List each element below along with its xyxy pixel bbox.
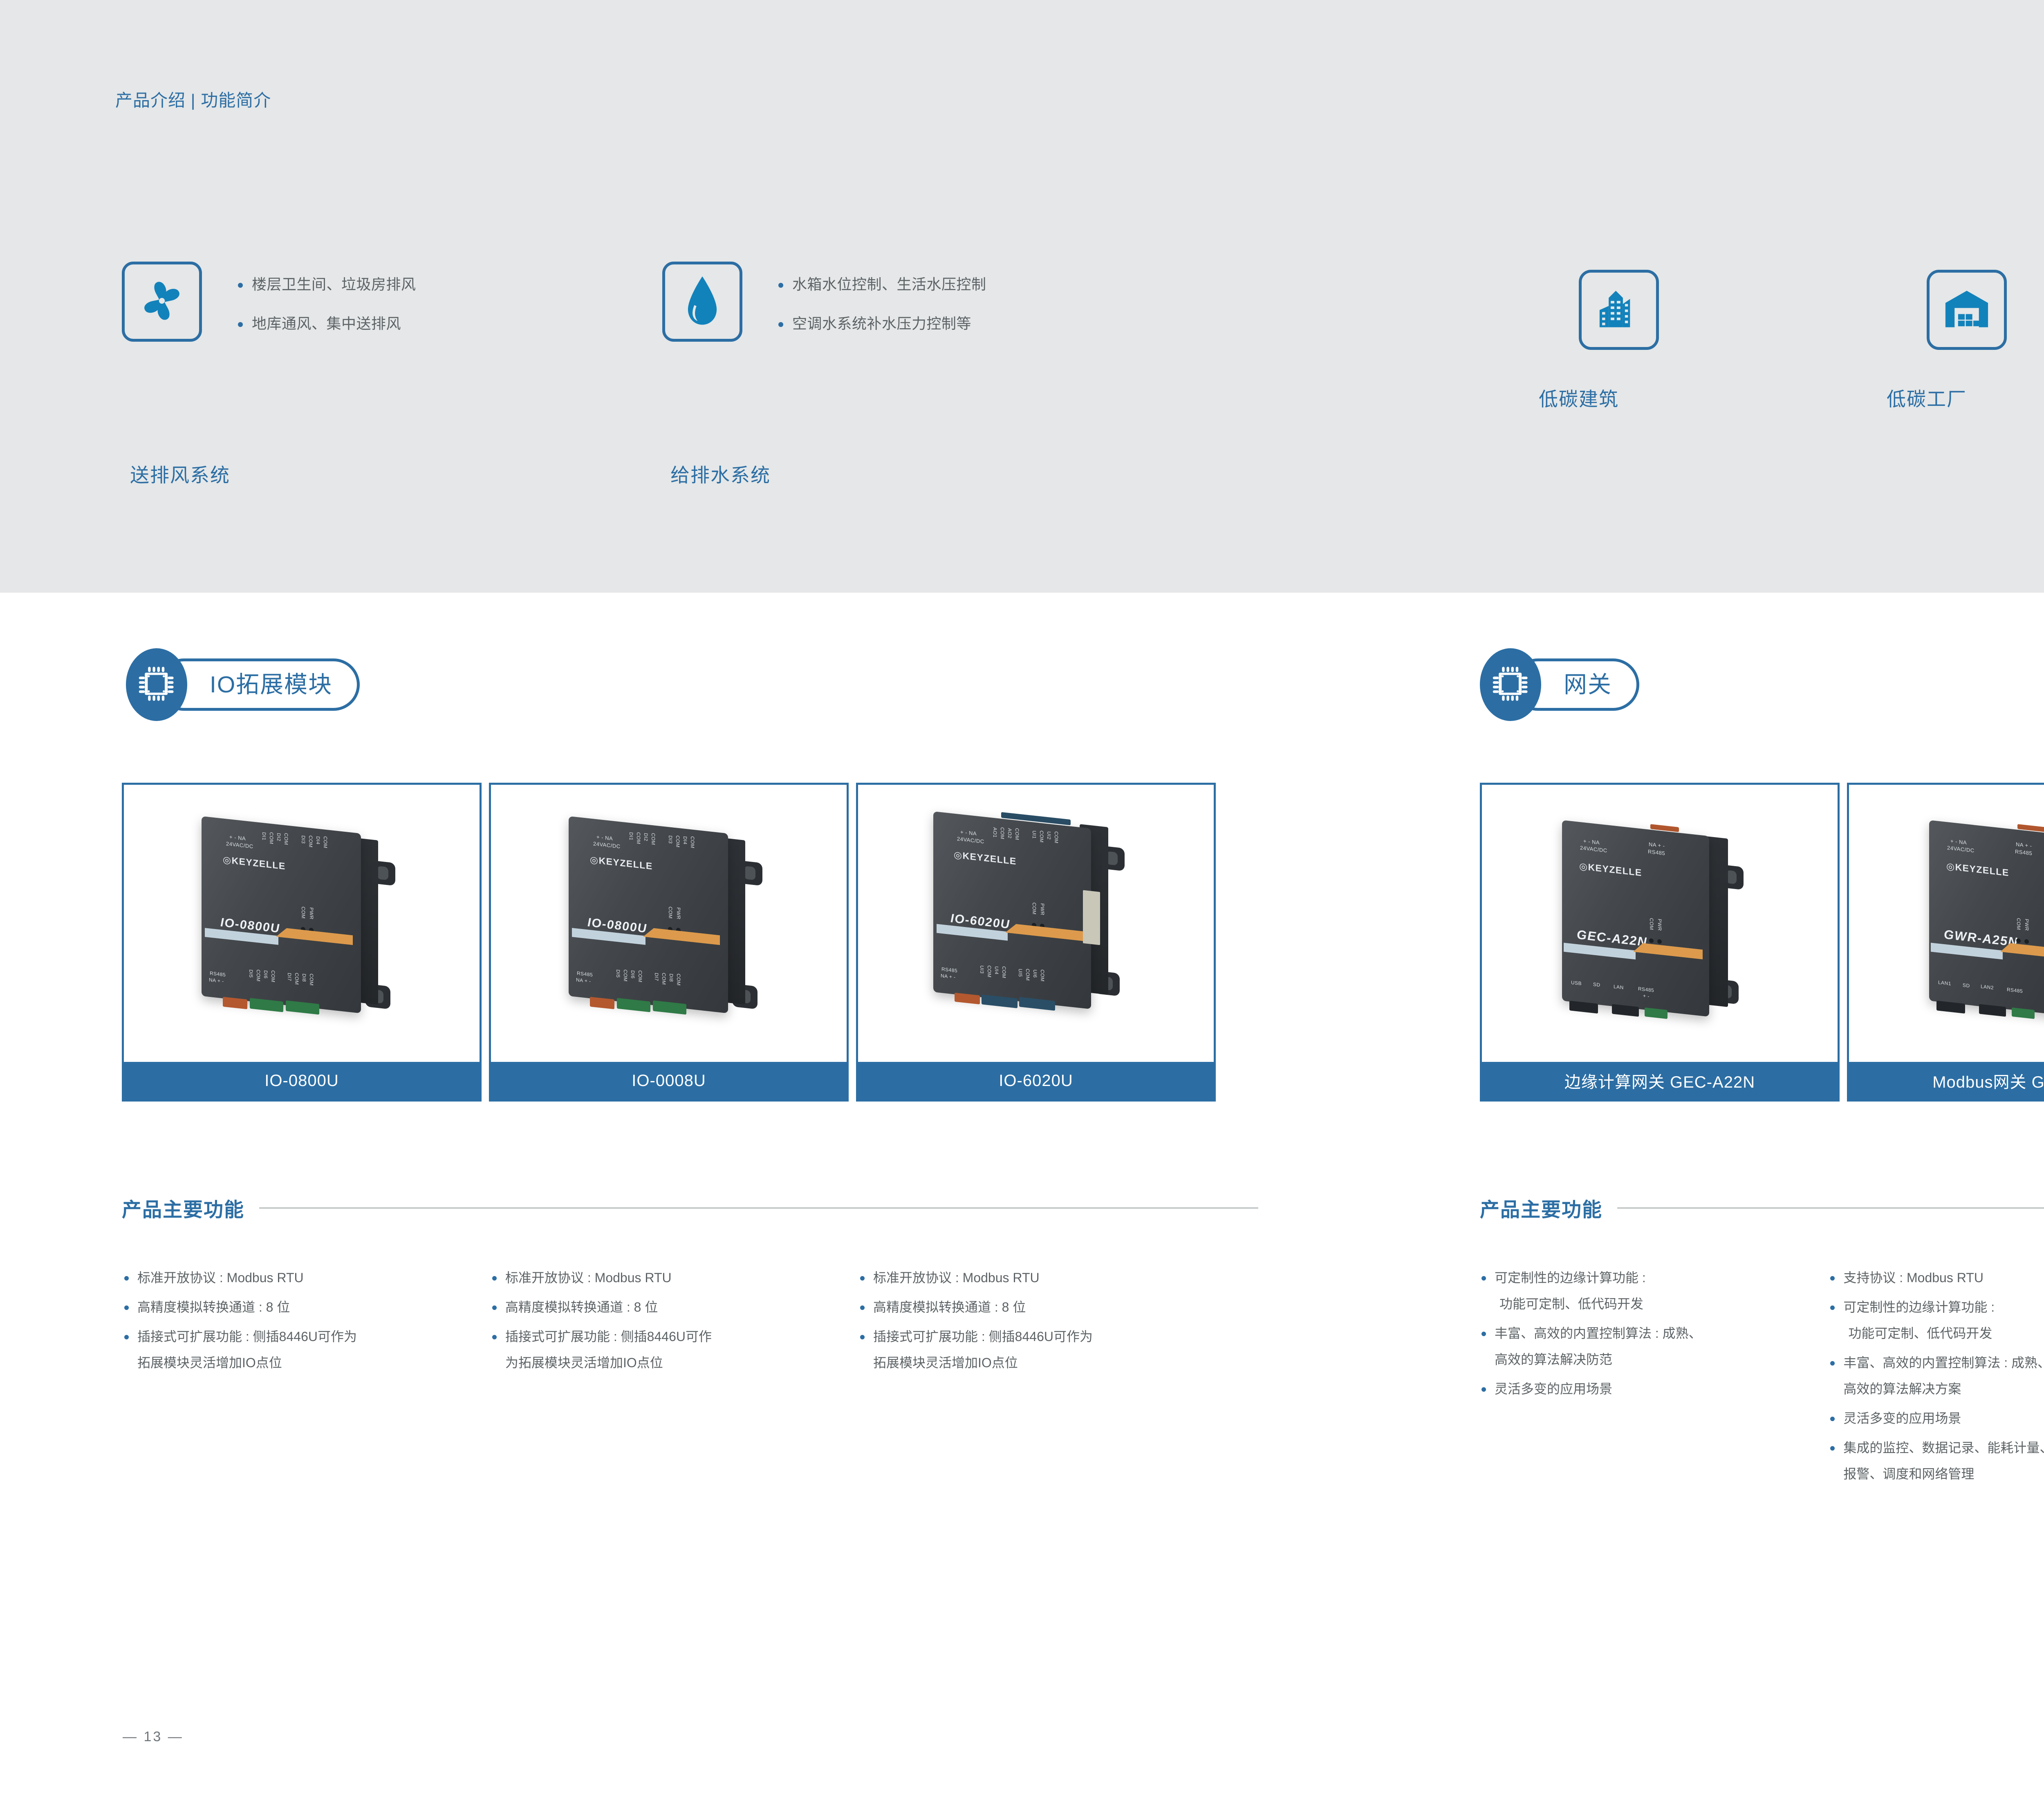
device-illustration: + - NA 24VAC/DC AO1 COM AO2 COM UI1 COM … [919,801,1165,1038]
features-rule [259,1207,1258,1209]
scene-bullet: 楼层卫生间、垃圾房排风 [235,277,416,292]
section-header-io: IO拓展模块 [126,648,360,721]
device-illustration: + - NA 24VAC/DC NA + - RS485 ◎KEYZELLE G… [1910,808,2044,1041]
features-columns-io: 标准开放协议 : Modbus RTU 高精度模拟转换通道 : 8 位 插接式可… [123,1271,1259,1386]
warehouse-icon-frame [1927,270,2007,350]
feature-item: 灵活多变的应用场景 [1829,1412,2044,1425]
scene-caption-water: 给排水系统 [670,459,771,488]
scene-bullet: 空调水系统补水压力控制等 [776,316,986,331]
feature-item: 高精度模拟转换通道 : 8 位 [123,1301,491,1314]
features-column: 标准开放协议 : Modbus RTU 高精度模拟转换通道 : 8 位 插接式可… [858,1271,1226,1386]
feature-item: 插接式可扩展功能 : 侧插8446U可作为 拓展模块灵活增加IO点位 [123,1330,491,1369]
fan-icon [135,274,188,329]
office-buildings-icon-frame [1579,270,1659,350]
product-card-label: IO-0008U [491,1062,847,1099]
product-card[interactable]: + - NA 24VAC/DC DI1 COM DI2 COM DI3 COM … [122,783,482,1102]
product-card-label: Modbus网关 GWR-A25N [1849,1062,2044,1099]
low-carbon-label: 低碳工厂 [1887,383,1967,412]
feature-item: 可定制性的边缘计算功能 : 功能可定制、低代码开发 [1480,1271,1829,1310]
low-carbon-label: 低碳建筑 [1539,383,1619,412]
brochure-spread: 产品介绍 | 功能简介 产品介绍 | 功能简介 楼层卫生间、垃圾房排风 地库通风… [0,0,2044,1798]
product-photo: + - NA 24VAC/DC NA + - RS485 ◎KEYZELLE G… [1849,785,2044,1062]
feature-item: 支持协议 : Modbus RTU [1829,1271,2044,1284]
product-photo: + - NA 24VAC/DC DI1 COM DI2 COM DI3 COM … [124,785,480,1062]
feature-item: 标准开放协议 : Modbus RTU [123,1271,491,1284]
feature-item: 插接式可扩展功能 : 侧插8446U可作 为拓展模块灵活增加IO点位 [491,1330,858,1369]
office-buildings-icon [1594,284,1644,336]
scene-ventilation: 楼层卫生间、垃圾房排风 地库通风、集中送排风 [122,262,416,356]
features-columns-gateway: 可定制性的边缘计算功能 : 功能可定制、低代码开发 丰富、高效的内置控制算法 :… [1480,1271,2044,1497]
features-title: 产品主要功能 [122,1193,244,1222]
product-card[interactable]: + - NA 24VAC/DC NA + - RS485 ◎KEYZELLE G… [1480,783,1840,1102]
features-header-gateway: 产品主要功能 [1480,1193,2044,1222]
low-carbon-tile-factory: 低碳工厂 [1927,270,2007,412]
features-rule [1617,1207,2044,1209]
chip-icon [1491,664,1530,705]
features-column: 可定制性的边缘计算功能 : 功能可定制、低代码开发 丰富、高效的内置控制算法 :… [1480,1271,1829,1497]
feature-item: 丰富、高效的内置控制算法 : 成熟、 高效的算法解决方案 [1829,1356,2044,1395]
features-header-io: 产品主要功能 [122,1193,1258,1222]
scene-bullet: 水箱水位控制、生活水压控制 [776,277,986,292]
low-carbon-tile-building: 低碳建筑 [1579,270,1659,412]
section-title-io: IO拓展模块 [210,673,332,696]
water-drop-icon [678,274,727,329]
product-card-label: IO-6020U [858,1062,1214,1099]
section-header-gateway: 网关 [1480,648,1639,721]
feature-item: 插接式可扩展功能 : 侧插8446U可作为 拓展模块灵活增加IO点位 [858,1330,1226,1369]
features-column: 标准开放协议 : Modbus RTU 高精度模拟转换通道 : 8 位 插接式可… [123,1271,491,1386]
feature-item: 丰富、高效的内置控制算法 : 成熟、 高效的算法解决防范 [1480,1327,1829,1366]
product-card[interactable]: + - NA 24VAC/DC NA + - RS485 ◎KEYZELLE G… [1847,783,2044,1102]
product-card[interactable]: + - NA 24VAC/DC DI1 COM DI2 COM DI3 COM … [489,783,849,1102]
device-illustration: + - NA 24VAC/DC DI1 COM DI2 COM DI3 COM … [552,809,798,1038]
chip-icon-badge [126,648,187,721]
feature-item: 标准开放协议 : Modbus RTU [491,1271,858,1284]
product-card-label: IO-0800U [124,1062,480,1099]
product-photo: + - NA 24VAC/DC AO1 COM AO2 COM UI1 COM … [858,785,1214,1062]
product-cards-io: + - NA 24VAC/DC DI1 COM DI2 COM DI3 COM … [122,783,1216,1102]
features-column: 支持协议 : Modbus RTU 可定制性的边缘计算功能 : 功能可定制、低代… [1829,1271,2044,1497]
scene-water-bullets: 水箱水位控制、生活水压控制 空调水系统补水压力控制等 [776,262,986,356]
product-cards-gateway: + - NA 24VAC/DC NA + - RS485 ◎KEYZELLE G… [1480,783,2044,1102]
features-column: 标准开放协议 : Modbus RTU 高精度模拟转换通道 : 8 位 插接式可… [491,1271,858,1386]
chip-icon [137,664,176,705]
scene-bullet: 地库通风、集中送排风 [235,316,416,331]
device-illustration: + - NA 24VAC/DC NA + - RS485 ◎KEYZELLE G… [1543,808,1788,1041]
scene-caption-ventilation: 送排风系统 [130,459,230,488]
scene-water: 水箱水位控制、生活水压控制 空调水系统补水压力控制等 [662,262,986,356]
features-title: 产品主要功能 [1480,1193,1602,1222]
product-card-label: 边缘计算网关 GEC-A22N [1482,1062,1838,1099]
fan-icon-frame [122,262,202,342]
feature-item: 标准开放协议 : Modbus RTU [858,1271,1226,1284]
section-title-gateway: 网关 [1564,673,1612,696]
device-illustration: + - NA 24VAC/DC DI1 COM DI2 COM DI3 COM … [185,809,430,1038]
running-header-left: 产品介绍 | 功能简介 [115,87,271,112]
product-card[interactable]: + - NA 24VAC/DC AO1 COM AO2 COM UI1 COM … [856,783,1216,1102]
product-photo: + - NA 24VAC/DC DI1 COM DI2 COM DI3 COM … [491,785,847,1062]
water-icon-frame [662,262,742,342]
feature-item: 高精度模拟转换通道 : 8 位 [491,1301,858,1314]
feature-item: 可定制性的边缘计算功能 : 功能可定制、低代码开发 [1829,1301,2044,1340]
feature-item: 高精度模拟转换通道 : 8 位 [858,1301,1226,1314]
feature-item: 集成的监控、数据记录、能耗计量、 报警、调度和网络管理 [1829,1441,2044,1480]
product-photo: + - NA 24VAC/DC NA + - RS485 ◎KEYZELLE G… [1482,785,1838,1062]
feature-item: 灵活多变的应用场景 [1480,1382,1829,1395]
page-number-left: — 13 — [123,1729,184,1745]
warehouse-icon [1941,284,1992,336]
section-pill-io: IO拓展模块 [158,658,360,711]
chip-icon-badge [1480,648,1541,721]
scene-ventilation-bullets: 楼层卫生间、垃圾房排风 地库通风、集中送排风 [235,262,416,356]
